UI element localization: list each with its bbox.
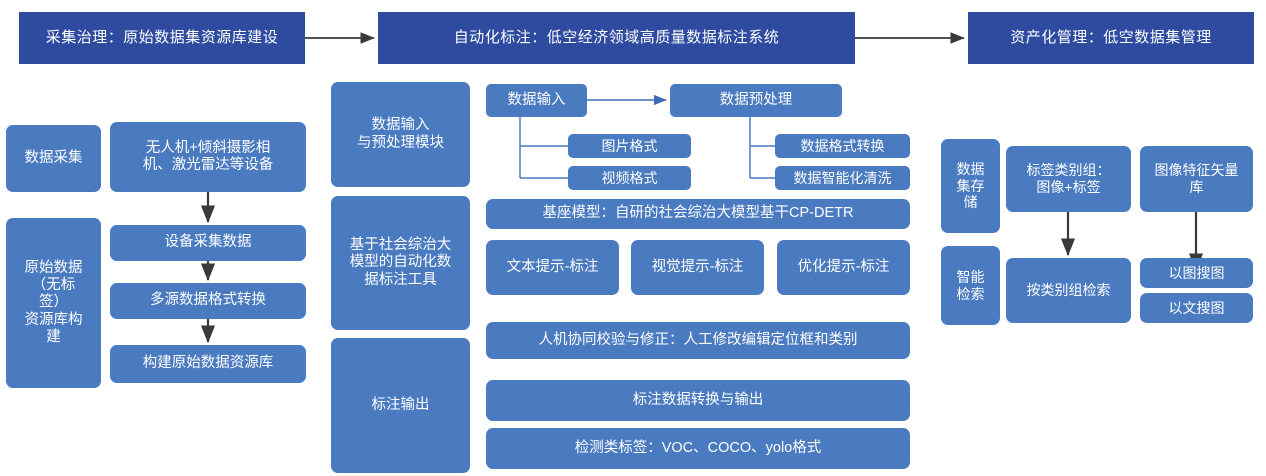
module-label-auto-annotation-tool: 基于社会综治大 模型的自动化数 据标注工具 [331,196,470,330]
header-box-collection: 采集治理：原始数据集资源库建设 [19,12,305,64]
flow-box-build-raw-data-repository: 构建原始数据资源库 [110,345,306,383]
node-intelligent-data-cleaning: 数据智能化清洗 [775,166,910,190]
node-optimized-prompt-annotation: 优化提示-标注 [777,240,910,295]
node-image-format: 图片格式 [568,134,691,158]
node-text-prompt-annotation: 文本提示-标注 [486,240,619,295]
node-label-category-group: 标签类别组： 图像+标签 [1006,146,1131,212]
node-detection-label-formats: 检测类标签：VOC、COCO、yolo格式 [486,428,910,469]
module-label-annotation-output: 标注输出 [331,338,470,473]
node-data-format-conversion: 数据格式转换 [775,134,910,158]
node-base-model: 基座模型：自研的社会综治大模型基干CP-DETR [486,199,910,229]
flow-box-multisource-format-conversion: 多源数据格式转换 [110,283,306,319]
node-annotation-data-conversion-output: 标注数据转换与输出 [486,380,910,421]
flow-box-uav-equipment: 无人机+倾斜摄影相 机、激光雷达等设备 [110,122,306,192]
node-search-image-by-image: 以图搜图 [1140,258,1253,288]
stage-label-raw-data-repository: 原始数据 （无标 签） 资源库构 建 [6,218,101,388]
stage-label-data-collection: 数据采集 [6,125,101,192]
module-label-input-preprocess: 数据输入 与预处理模块 [331,82,470,187]
node-video-format: 视频格式 [568,166,691,190]
node-retrieve-by-category-group: 按类别组检索 [1006,258,1131,323]
node-visual-prompt-annotation: 视觉提示-标注 [631,240,764,295]
node-search-image-by-text: 以文搜图 [1140,293,1253,323]
node-data-input: 数据输入 [486,84,587,117]
header-box-annotation: 自动化标注：低空经济领域高质量数据标注系统 [378,12,855,64]
diagram-canvas: 采集治理：原始数据集资源库建设 自动化标注：低空经济领域高质量数据标注系统 资产… [0,0,1266,476]
flow-box-device-collected-data: 设备采集数据 [110,225,306,261]
header-box-assetization: 资产化管理：低空数据集管理 [968,12,1254,64]
stage-label-dataset-storage: 数据 集存 储 [941,139,1000,233]
stage-label-intelligent-retrieval: 智能 检索 [941,246,1000,325]
node-human-machine-review: 人机协同校验与修正：人工修改编辑定位框和类别 [486,322,910,359]
node-data-preprocess: 数据预处理 [670,84,842,117]
node-image-feature-vector-db: 图像特征矢量 库 [1140,146,1253,212]
